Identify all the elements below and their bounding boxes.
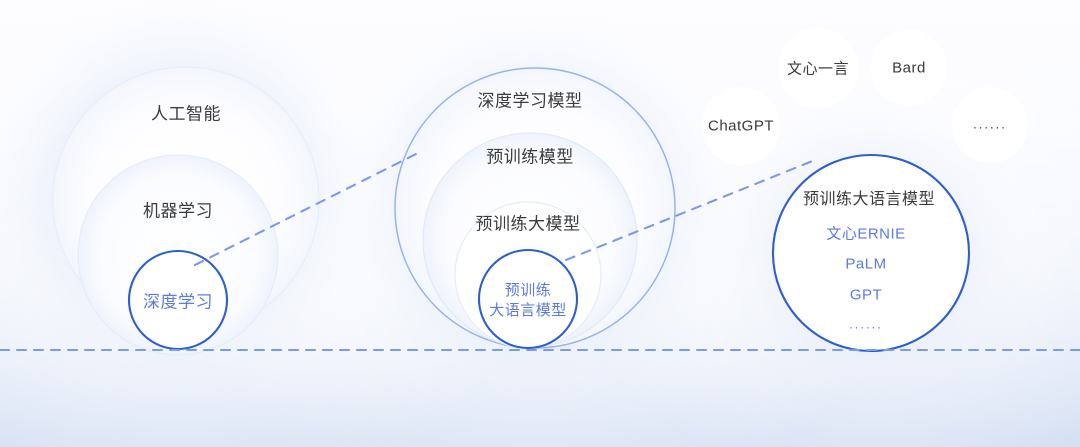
label-llm-ellipsis: ...... <box>849 317 883 332</box>
label-bubble-bard: Bard <box>892 60 926 77</box>
label-bubble-ernie-bot: 文心一言 <box>787 58 849 79</box>
label-pretrained-llm-line2: 大语言模型 <box>489 301 567 321</box>
label-ai: 人工智能 <box>151 100 221 125</box>
label-bubble-more: ...... <box>973 117 1007 132</box>
label-pretrained-large-model: 预训练大模型 <box>476 210 581 235</box>
label-deep-learning-model: 深度学习模型 <box>478 87 583 112</box>
label-llm-item-gpt: GPT <box>850 287 882 304</box>
label-pretrained-llm-line1: 预训练 <box>489 281 567 301</box>
diagram-canvas: 人工智能 机器学习 深度学习 深度学习模型 预训练模型 预训练大模型 预训练 大… <box>0 0 1080 447</box>
label-machine-learning: 机器学习 <box>143 197 213 222</box>
label-pretrained-llm: 预训练 大语言模型 <box>489 281 567 321</box>
label-llm-detail-heading: 预训练大语言模型 <box>803 185 935 209</box>
label-deep-learning: 深度学习 <box>143 288 213 313</box>
label-pretrained-model: 预训练模型 <box>486 143 574 168</box>
label-llm-item-palm: PaLM <box>845 256 886 273</box>
label-bubble-chatgpt: ChatGPT <box>708 118 774 135</box>
product-bubbles <box>702 28 1028 165</box>
label-llm-item-ernie: 文心ERNIE <box>826 223 905 244</box>
